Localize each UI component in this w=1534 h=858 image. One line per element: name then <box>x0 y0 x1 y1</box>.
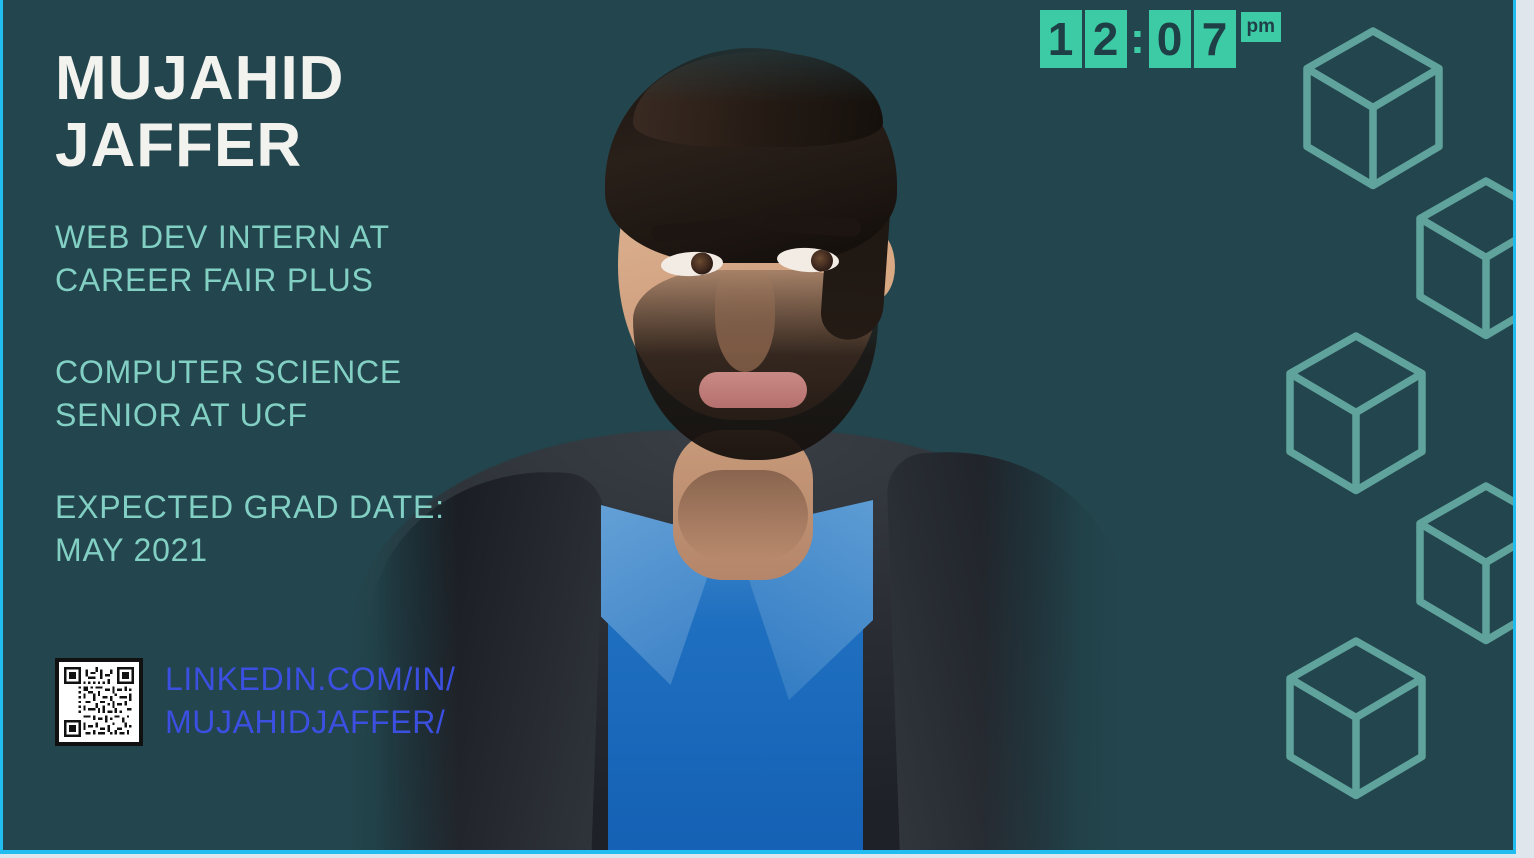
profile-info-panel: MUJAHID JAFFER WEB DEV INTERN AT CAREER … <box>55 46 535 573</box>
page-title: MUJAHID JAFFER <box>55 46 535 180</box>
clock-meridiem: pm <box>1241 12 1282 42</box>
clock-hour-tens: 1 <box>1040 10 1082 68</box>
clock-minute-ones: 7 <box>1194 10 1236 68</box>
profile-graduation: EXPECTED GRAD DATE: MAY 2021 <box>55 486 535 573</box>
isometric-cube-icon <box>1411 480 1516 648</box>
screen: 1 2 : 0 7 pm MUJAHID JAFFER WEB DEV INTE… <box>0 0 1534 858</box>
contact-row: LINKEDIN.COM/IN/ MUJAHIDJAFFER/ <box>55 658 456 746</box>
clock-hour-ones: 2 <box>1085 10 1127 68</box>
isometric-cube-icon <box>1281 330 1431 498</box>
isometric-cube-icon <box>1281 635 1431 803</box>
isometric-cube-icon <box>1411 175 1516 343</box>
video-window: 1 2 : 0 7 pm MUJAHID JAFFER WEB DEV INTE… <box>0 0 1516 854</box>
clock-minute-tens: 0 <box>1149 10 1191 68</box>
profile-role: WEB DEV INTERN AT CAREER FAIR PLUS <box>55 216 535 303</box>
linkedin-url-link[interactable]: LINKEDIN.COM/IN/ MUJAHIDJAFFER/ <box>165 658 456 743</box>
clock-separator: : <box>1130 10 1146 68</box>
qr-code-icon[interactable] <box>55 658 143 746</box>
clock-widget: 1 2 : 0 7 pm <box>1040 10 1282 68</box>
profile-education: COMPUTER SCIENCE SENIOR AT UCF <box>55 351 535 438</box>
isometric-cube-icon <box>1298 25 1448 193</box>
